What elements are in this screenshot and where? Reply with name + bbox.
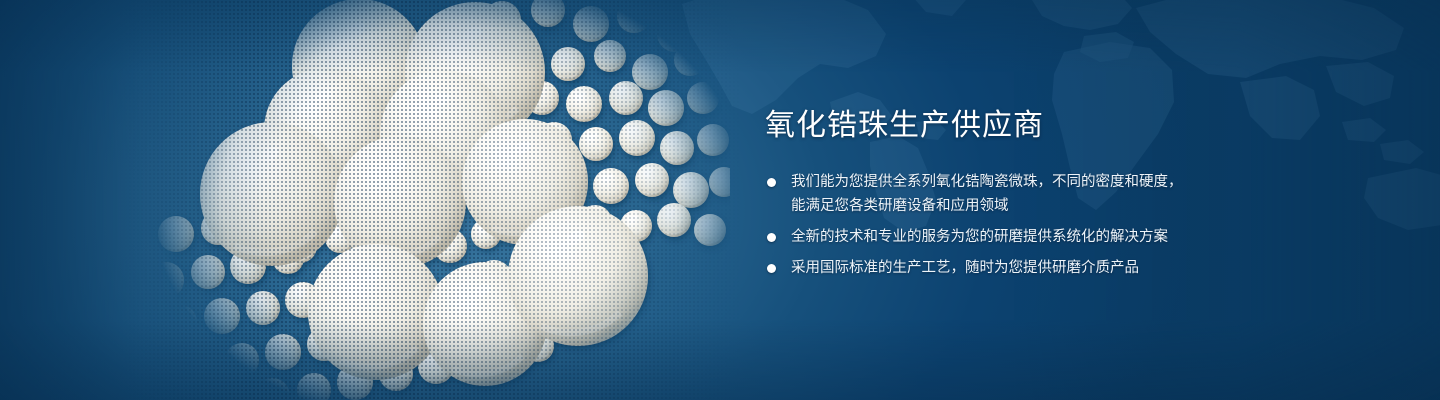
banner-copy-block: 氧化锆珠生产供应商 我们能为您提供全系列氧化锆陶瓷微珠，不同的密度和硬度， 能满… xyxy=(765,106,1365,280)
bullet-item-1-line-1: 我们能为您提供全系列氧化锆陶瓷微珠，不同的密度和硬度， xyxy=(791,170,1365,194)
bullet-item-2: 全新的技术和专业的服务为您的研磨提供系统化的解决方案 xyxy=(765,225,1365,249)
bullet-dot-icon xyxy=(767,178,776,187)
bullet-dot-icon xyxy=(767,233,776,242)
zirconia-beads-hero-banner: 氧化锆珠生产供应商 我们能为您提供全系列氧化锆陶瓷微珠，不同的密度和硬度， 能满… xyxy=(0,0,1440,400)
banner-headline: 氧化锆珠生产供应商 xyxy=(765,106,1365,146)
bullet-dot-icon xyxy=(767,264,776,273)
bullet-item-1-line-2: 能满足您各类研磨设备和应用领域 xyxy=(791,194,1365,218)
banner-bullet-list: 我们能为您提供全系列氧化锆陶瓷微珠，不同的密度和硬度， 能满足您各类研磨设备和应… xyxy=(765,170,1365,280)
bullet-item-2-line-1: 全新的技术和专业的服务为您的研磨提供系统化的解决方案 xyxy=(791,225,1365,249)
bullet-item-1: 我们能为您提供全系列氧化锆陶瓷微珠，不同的密度和硬度， 能满足您各类研磨设备和应… xyxy=(765,170,1365,218)
bullet-item-3-line-1: 采用国际标准的生产工艺，随时为您提供研磨介质产品 xyxy=(791,256,1365,280)
bullet-item-3: 采用国际标准的生产工艺，随时为您提供研磨介质产品 xyxy=(765,256,1365,280)
